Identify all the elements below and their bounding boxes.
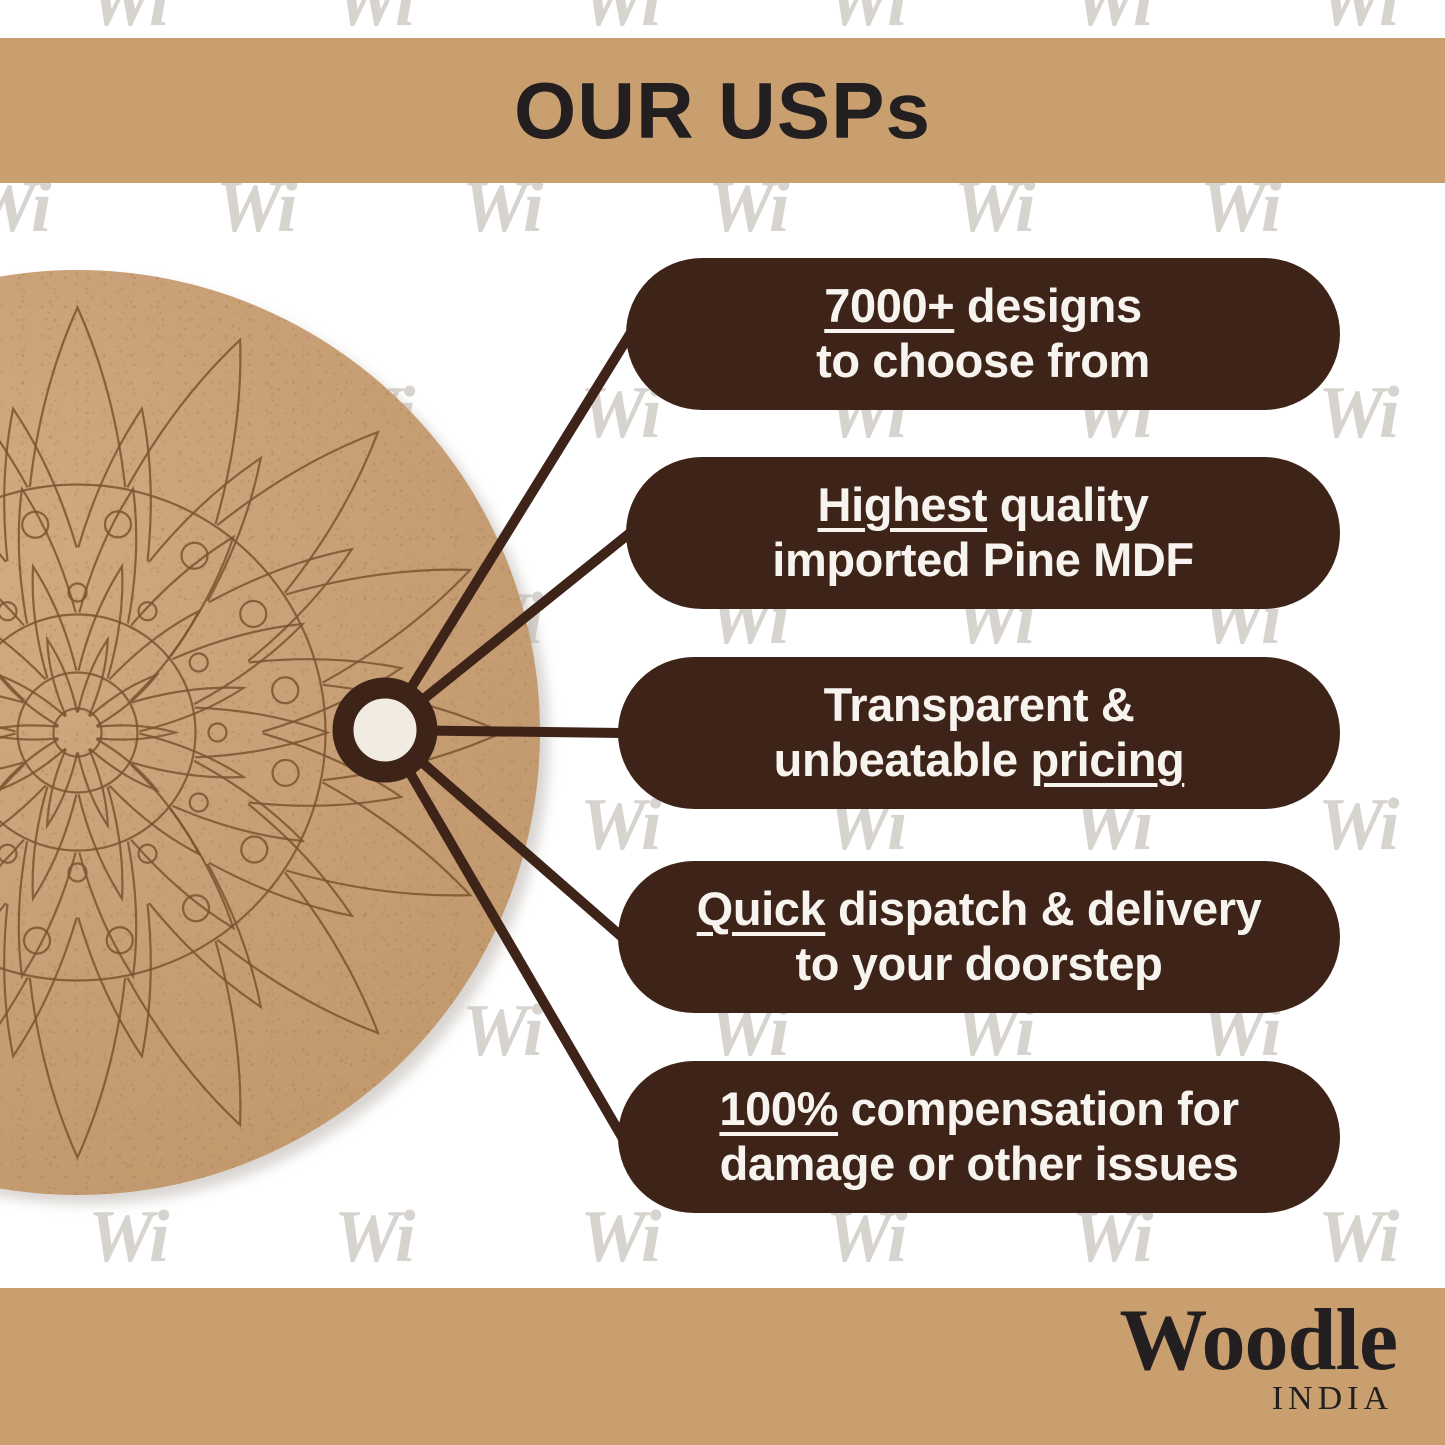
usp-plain-text: unbeatable xyxy=(774,733,1031,786)
usp-highlight-text: Highest xyxy=(818,478,988,531)
usp-highlight-text: pricing xyxy=(1030,733,1184,786)
brand-logo: Woodle INDIA xyxy=(1119,1298,1397,1416)
page-title: OUR USPs xyxy=(514,71,931,151)
usp-plain-text: to your doorstep xyxy=(796,937,1163,990)
usp-plain-text: imported Pine MDF xyxy=(772,533,1193,586)
usp-plain-text: dispatch & delivery xyxy=(825,882,1261,935)
usp-plain-text: designs xyxy=(954,279,1141,332)
usp-pill-material-quality[interactable]: Highest qualityimported Pine MDF xyxy=(626,457,1340,609)
usp-list: 7000+ designsto choose fromHighest quali… xyxy=(0,0,1445,1445)
usp-plain-text: quality xyxy=(987,478,1148,531)
usp-text-line: Transparent & xyxy=(824,678,1135,733)
usp-pill-designs-count[interactable]: 7000+ designsto choose from xyxy=(626,258,1340,410)
usp-text-line: damage or other issues xyxy=(720,1137,1239,1192)
usp-text-line: unbeatable pricing xyxy=(774,733,1185,788)
usp-plain-text: compensation for xyxy=(838,1082,1239,1135)
usp-text-line: Highest quality xyxy=(818,478,1149,533)
usp-plain-text: Transparent & xyxy=(824,678,1135,731)
usp-plain-text: damage or other issues xyxy=(720,1137,1239,1190)
usp-text-line: imported Pine MDF xyxy=(772,533,1193,588)
usp-pill-compensation[interactable]: 100% compensation fordamage or other iss… xyxy=(618,1061,1340,1213)
usp-highlight-text: 7000+ xyxy=(824,279,954,332)
usp-highlight-text: 100% xyxy=(719,1082,838,1135)
header-band: OUR USPs xyxy=(0,38,1445,183)
usp-text-line: to choose from xyxy=(816,334,1150,389)
usp-highlight-text: Quick xyxy=(697,882,826,935)
infographic-canvas: WiWiWiWiWiWiWiWiWiWiWiWiWiWiWiWiWiWiWiWi… xyxy=(0,0,1445,1445)
usp-text-line: Quick dispatch & delivery xyxy=(697,882,1262,937)
usp-text-line: 100% compensation for xyxy=(719,1082,1238,1137)
usp-text-line: 7000+ designs xyxy=(824,279,1141,334)
usp-pill-pricing[interactable]: Transparent &unbeatable pricing xyxy=(618,657,1340,809)
brand-name: Woodle xyxy=(1119,1298,1397,1384)
usp-pill-dispatch-delivery[interactable]: Quick dispatch & deliveryto your doorste… xyxy=(618,861,1340,1013)
usp-plain-text: to choose from xyxy=(816,334,1150,387)
usp-text-line: to your doorstep xyxy=(796,937,1163,992)
